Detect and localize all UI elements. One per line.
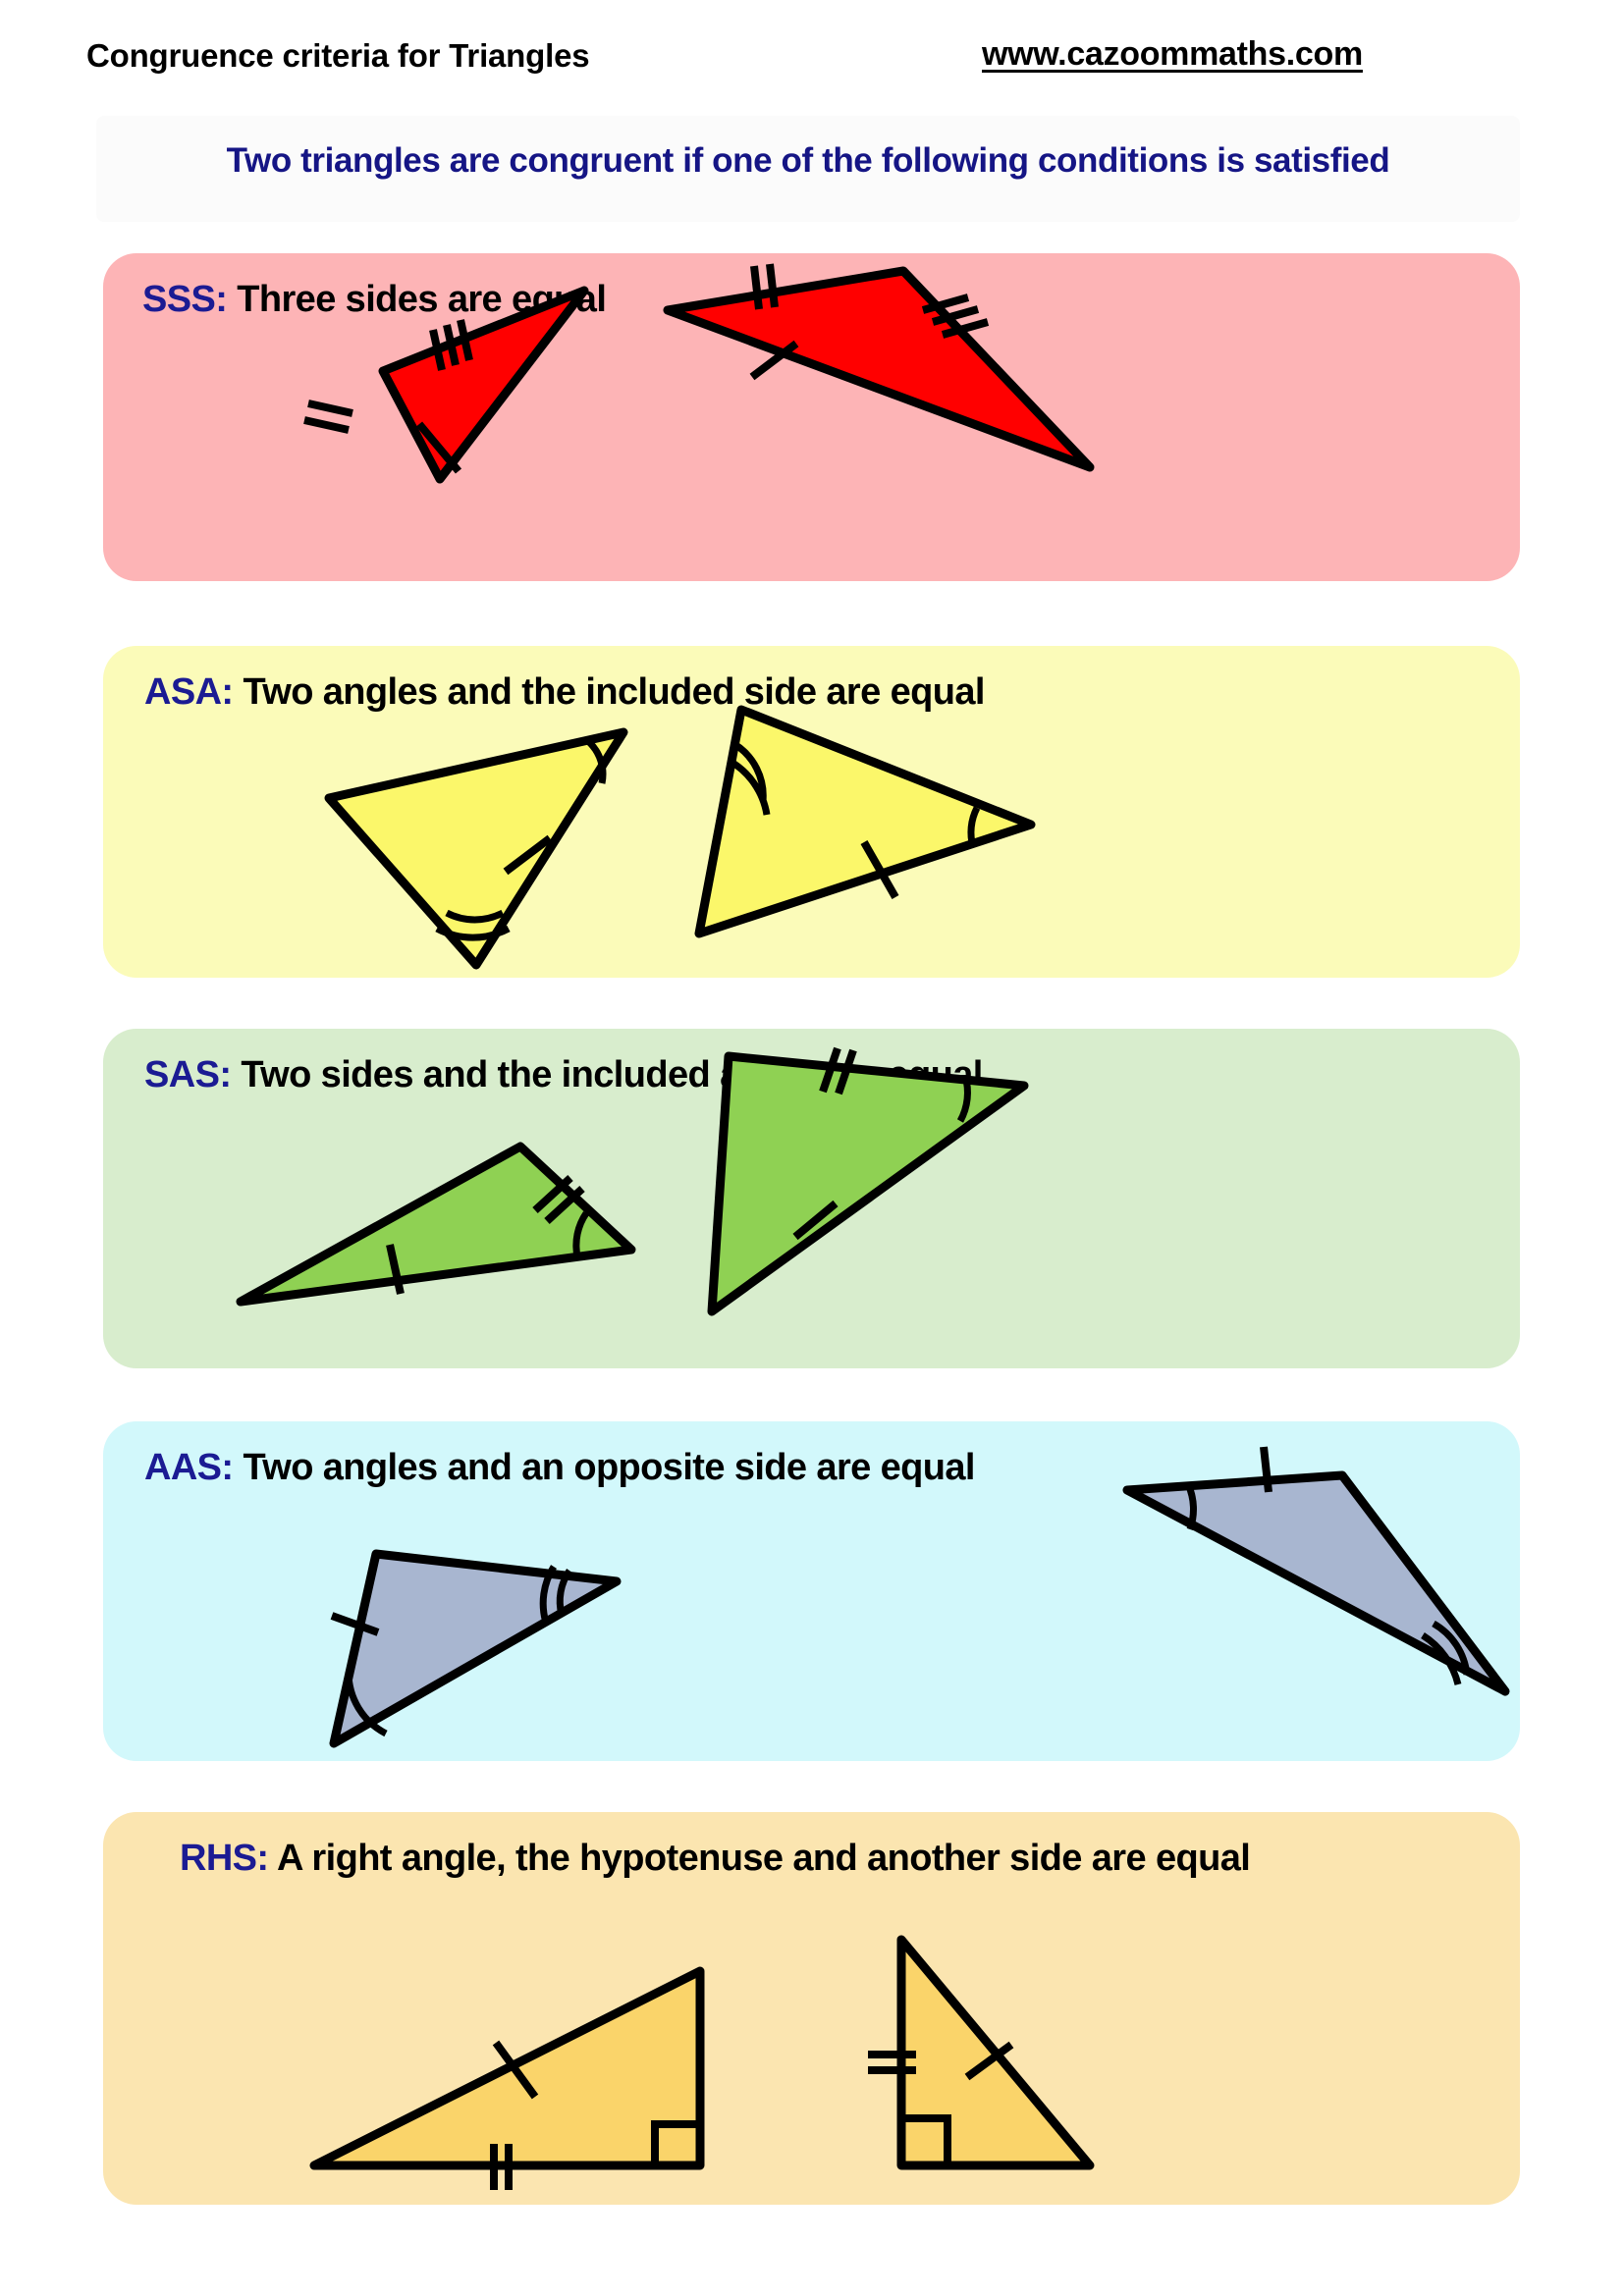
tick-mark: [304, 420, 349, 430]
tick-mark: [547, 1189, 582, 1221]
right-angle-marker: [901, 2118, 947, 2163]
tick-mark: [447, 325, 456, 365]
panel-code-aas: AAS:: [144, 1447, 243, 1488]
angle-arc: [1434, 1624, 1467, 1675]
tick-mark: [933, 309, 978, 322]
criteria-panel-sas: SAS: Two sides and the included angle ar…: [103, 1029, 1520, 1368]
panel-code-asa: ASA:: [144, 671, 243, 713]
tick-mark: [864, 842, 895, 897]
tick-mark: [1264, 1447, 1269, 1492]
tick-mark: [460, 320, 469, 360]
subtitle-banner: Two triangles are congruent if one of th…: [96, 116, 1520, 222]
tick-mark: [943, 322, 988, 335]
angle-arc: [447, 913, 503, 920]
angle-arc: [1423, 1635, 1458, 1684]
tick-mark: [496, 2043, 535, 2097]
angle-arc: [734, 744, 763, 801]
triangle-rhs-right: [868, 1940, 1090, 2165]
criteria-panel-rhs: RHS: A right angle, the hypotenuse and a…: [103, 1812, 1520, 2205]
angle-arc: [437, 929, 509, 937]
panel-description-rhs: A right angle, the hypotenuse and anothe…: [277, 1838, 1250, 1879]
panel-description-aas: Two angles and an opposite side are equa…: [243, 1447, 974, 1488]
angle-arc: [560, 1571, 569, 1615]
triangle-sss-right: [668, 264, 1090, 467]
panel-code-sss: SSS:: [142, 279, 237, 320]
panel-description-sas: Two sides and the included angle are equ…: [241, 1054, 982, 1095]
criteria-panel-aas: AAS: Two angles and an opposite side are…: [103, 1421, 1520, 1761]
panel-heading-rhs: RHS: A right angle, the hypotenuse and a…: [180, 1838, 1250, 1880]
page-title: Congruence criteria for Triangles: [86, 37, 589, 75]
page-header: Congruence criteria for Triangles www.ca…: [0, 0, 1624, 106]
triangle-asa-right: [699, 710, 1031, 934]
angle-arc: [971, 808, 977, 847]
tick-mark: [308, 403, 352, 413]
triangle-sas-left: [241, 1147, 631, 1302]
angle-arc: [589, 742, 603, 783]
panel-code-rhs: RHS:: [180, 1838, 277, 1879]
tick-mark: [419, 424, 459, 471]
angle-arc: [730, 761, 767, 815]
tick-mark: [535, 1178, 570, 1210]
angle-arc: [1188, 1484, 1193, 1529]
angle-arc: [349, 1672, 386, 1734]
tick-mark: [752, 344, 796, 377]
panel-heading-sas: SAS: Two sides and the included angle ar…: [144, 1054, 983, 1096]
triangle-aas-left: [332, 1554, 617, 1743]
panel-heading-sss: SSS: Three sides are equal: [142, 279, 606, 321]
tick-mark: [770, 264, 775, 307]
panel-code-sas: SAS:: [144, 1054, 241, 1095]
tick-mark: [754, 266, 759, 309]
angle-arc: [543, 1567, 554, 1623]
tick-mark: [923, 297, 968, 310]
tick-mark: [506, 838, 550, 872]
triangle-asa-left: [329, 732, 623, 965]
panel-heading-asa: ASA: Two angles and the included side ar…: [144, 671, 985, 714]
tick-mark: [967, 2045, 1011, 2077]
tick-mark: [332, 1616, 378, 1632]
triangle-aas-right: [1127, 1447, 1505, 1691]
tick-mark: [795, 1203, 836, 1237]
panel-description-sss: Three sides are equal: [237, 279, 606, 320]
angle-arc: [576, 1213, 586, 1256]
panel-heading-aas: AAS: Two angles and an opposite side are…: [144, 1447, 975, 1489]
triangle-rhs-left: [314, 1971, 700, 2190]
criteria-panel-sss: SSS: Three sides are equal: [103, 253, 1520, 581]
website-link[interactable]: www.cazoommaths.com: [982, 35, 1363, 74]
panel-description-asa: Two angles and the included side are equ…: [243, 671, 984, 713]
tick-mark: [390, 1245, 401, 1294]
criteria-panel-asa: ASA: Two angles and the included side ar…: [103, 646, 1520, 978]
subtitle-text: Two triangles are congruent if one of th…: [96, 141, 1520, 181]
right-angle-marker: [655, 2124, 698, 2165]
tick-mark: [433, 330, 442, 370]
